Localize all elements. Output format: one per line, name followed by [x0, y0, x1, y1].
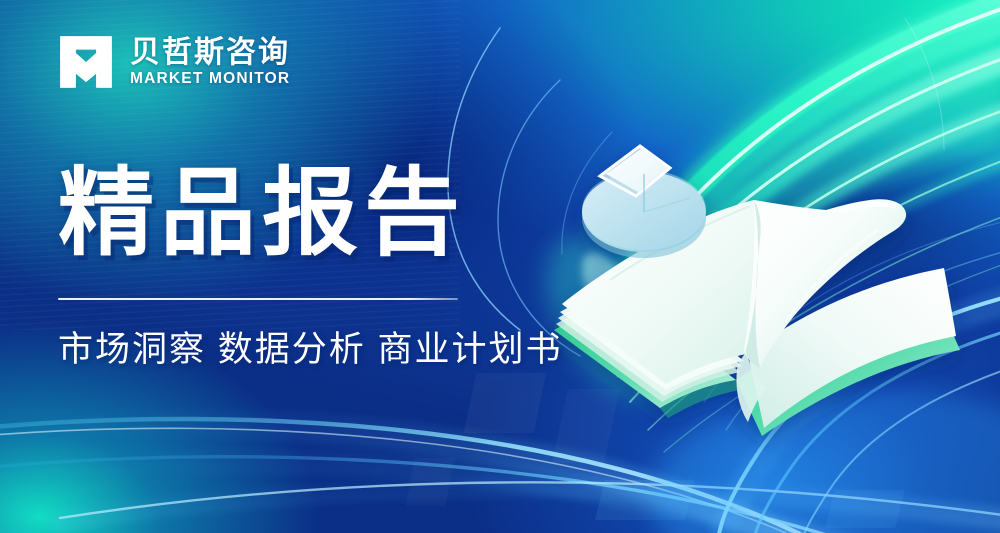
title-divider	[58, 298, 458, 300]
3d-pie-chart-icon	[582, 146, 706, 258]
banner-content: 贝哲斯咨询 MARKET MONITOR 精品报告 市场洞察 数据分析 商业计划…	[0, 0, 560, 533]
brand-name-en: MARKET MONITOR	[130, 71, 290, 87]
open-book-illustration	[540, 140, 980, 440]
report-banner: 贝哲斯咨询 MARKET MONITOR 精品报告 市场洞察 数据分析 商业计划…	[0, 0, 1000, 533]
market-monitor-m-logo-icon	[58, 34, 114, 90]
brand-name-cn: 贝哲斯咨询	[130, 37, 290, 69]
brand-text: 贝哲斯咨询 MARKET MONITOR	[130, 37, 290, 88]
page-title: 精品报告	[58, 166, 560, 262]
brand-lockup: 贝哲斯咨询 MARKET MONITOR	[58, 34, 560, 90]
page-subtitle: 市场洞察 数据分析 商业计划书	[58, 328, 560, 372]
